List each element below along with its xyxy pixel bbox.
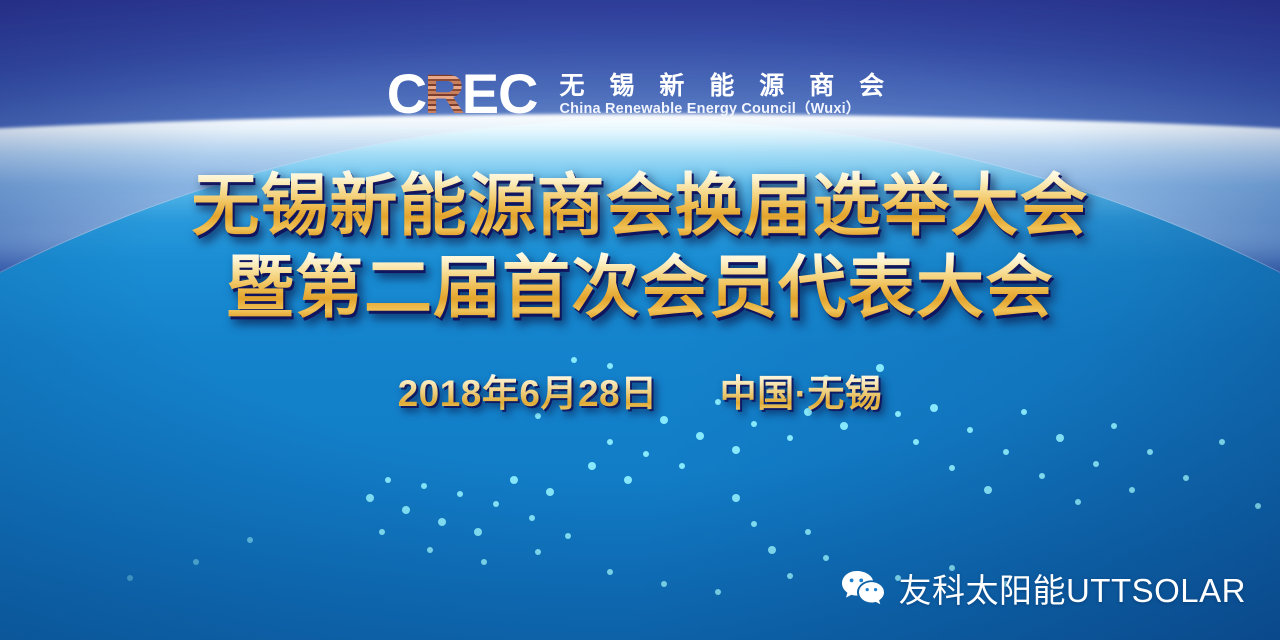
crec-letter-c-first: C (387, 66, 426, 122)
crec-letter-r: R (424, 66, 463, 122)
wechat-icon (840, 569, 886, 607)
event-date: 2018年6月28日 (398, 372, 658, 416)
wechat-account-name: 友科太阳能UTTSOLAR (898, 564, 1246, 612)
org-name-english: China Renewable Energy Council（Wuxi） (560, 102, 894, 117)
crec-logo: C R EC 无 锡 新 能 源 商 会 China Renewable Ene… (0, 66, 1280, 122)
crec-letter-ec: EC (462, 66, 538, 122)
crec-wordmark: C R EC (387, 66, 538, 122)
event-title: 无锡新能源商会换届选举大会 暨第二届首次会员代表大会 (0, 168, 1280, 326)
event-poster: C R EC 无 锡 新 能 源 商 会 China Renewable Ene… (0, 0, 1280, 640)
organization-names: 无 锡 新 能 源 商 会 China Renewable Energy Cou… (560, 71, 894, 117)
event-meta: 2018年6月28日 中国·无锡 (0, 372, 1280, 416)
event-title-line-1: 无锡新能源商会换届选举大会 (191, 168, 1088, 244)
org-name-chinese: 无 锡 新 能 源 商 会 (560, 73, 894, 99)
event-location: 中国·无锡 (720, 372, 883, 416)
wechat-watermark: 友科太阳能UTTSOLAR (840, 564, 1246, 612)
event-title-line-2: 暨第二届首次会员代表大会 (226, 250, 1054, 326)
